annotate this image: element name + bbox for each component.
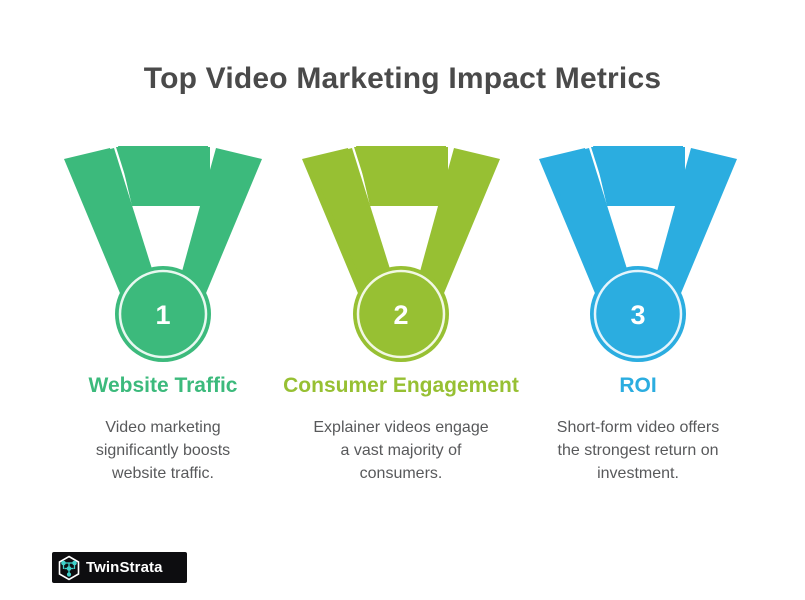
metric-body-1: Video marketing significantly boosts web… <box>44 416 282 485</box>
page-title: Top Video Marketing Impact Metrics <box>0 62 805 96</box>
infographic-slide: Top Video Marketing Impact Metrics 1 Web… <box>0 0 805 600</box>
metric-column-2: 2 Consumer Engagement Explainer videos e… <box>282 136 520 485</box>
medal-rank-number: 1 <box>155 300 170 330</box>
medal-ribbon-icon: 3 <box>519 136 757 364</box>
metric-heading-1: Website Traffic <box>44 373 282 398</box>
medal-graphic-3: 3 <box>519 136 757 364</box>
metric-heading-3: ROI <box>519 373 757 398</box>
medal-rank-number: 3 <box>630 300 645 330</box>
logo-wordmark: TwinStrata <box>86 559 163 576</box>
medal-graphic-2: 2 <box>282 136 520 364</box>
metric-column-1: 1 Website Traffic Video marketing signif… <box>44 136 282 485</box>
metric-column-3: 3 ROI Short-form video offers the strong… <box>519 136 757 485</box>
metric-body-3: Short-form video offers the strongest re… <box>519 416 757 485</box>
metric-body-2: Explainer videos engage a vast majority … <box>282 416 520 485</box>
medal-ribbon-icon: 2 <box>282 136 520 364</box>
brand-logo: TwinStrata <box>52 552 187 583</box>
medal-ribbon-icon: 1 <box>44 136 282 364</box>
hexagon-network-icon <box>57 555 81 581</box>
medal-graphic-1: 1 <box>44 136 282 364</box>
metric-heading-2: Consumer Engagement <box>282 373 520 398</box>
medal-rank-number: 2 <box>393 300 408 330</box>
